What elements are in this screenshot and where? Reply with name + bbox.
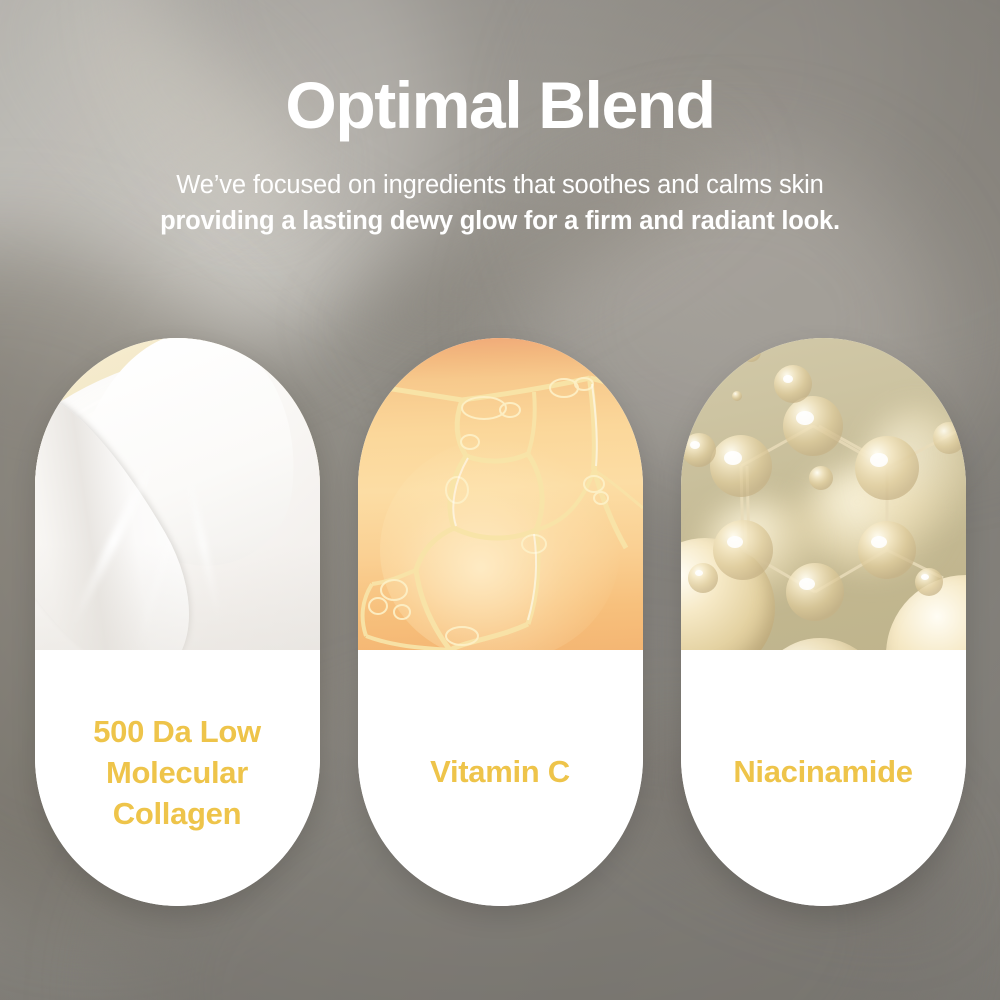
ingredient-card-niacinamide[interactable]: Niacinamide [681,338,966,906]
card-caption-collagen: 500 Da Low Molecular Collagen [35,712,320,835]
card-media-niacinamide [681,338,966,650]
header: Optimal Blend We’ve focused on ingredien… [0,0,1000,239]
subtitle-line-2: providing a lasting dewy glow for a firm… [0,203,1000,239]
ingredient-card-vitamin-c[interactable]: Vitamin C [358,338,643,906]
ingredient-card-list: 500 Da Low Molecular Collagen [0,338,1000,908]
card-caption-zone: Niacinamide [681,650,966,906]
card-caption-vitamin-c: Vitamin C [414,752,586,793]
card-caption-niacinamide: Niacinamide [717,752,928,793]
card-media-vitamin-c [358,338,643,650]
card-caption-zone: 500 Da Low Molecular Collagen [35,650,320,906]
cream-swirl-icon [35,338,320,650]
ingredient-card-collagen[interactable]: 500 Da Low Molecular Collagen [35,338,320,906]
card-caption-zone: Vitamin C [358,650,643,906]
oil-bubbles-icon [358,338,643,650]
page-subtitle: We’ve focused on ingredients that soothe… [0,138,1000,239]
subtitle-line-1: We’ve focused on ingredients that soothe… [176,171,823,199]
molecule-structure-icon [681,338,966,650]
card-media-collagen [35,338,320,650]
page-title: Optimal Blend [0,0,1000,138]
